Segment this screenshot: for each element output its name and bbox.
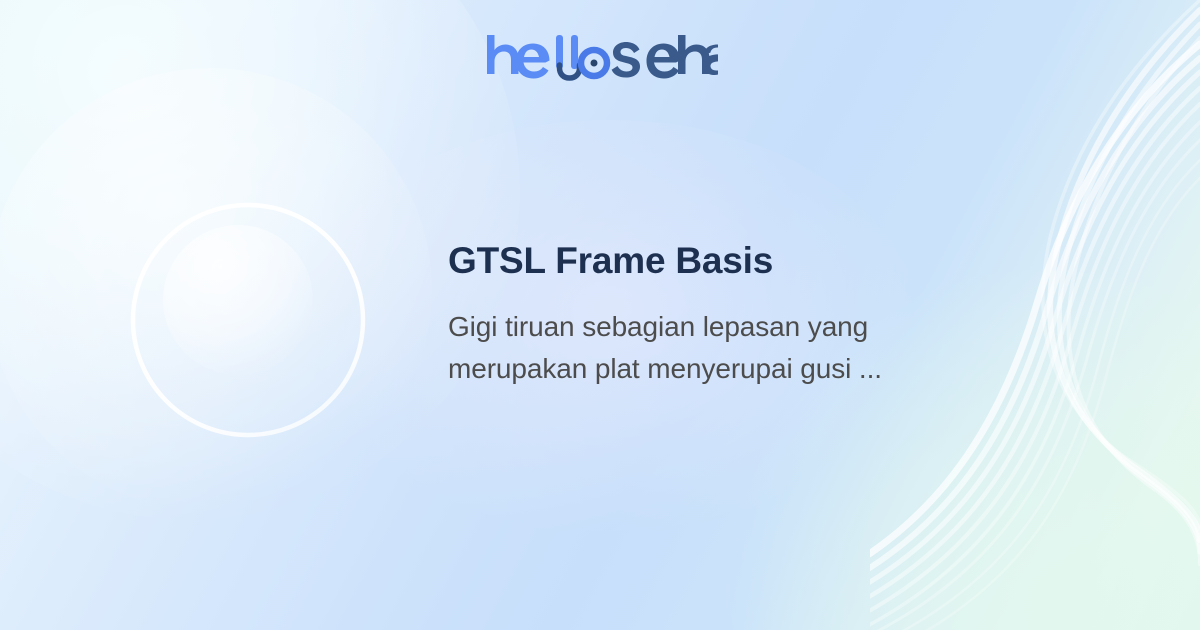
brand-logo[interactable] [0, 34, 1200, 82]
logo-letters-light [487, 35, 550, 79]
stethoscope-letters-icon [556, 35, 580, 78]
hellosehat-logo-icon[interactable] [483, 34, 718, 82]
og-card: GTSL Frame Basis Gigi tiruan sebagian le… [0, 0, 1200, 630]
page-description: Gigi tiruan sebagian lepasan yang merupa… [448, 306, 1008, 390]
stethoscope-chestpiece-icon [581, 50, 607, 76]
page-title: GTSL Frame Basis [448, 238, 1008, 284]
logo-letters-dark [611, 35, 718, 79]
article-content: GTSL Frame Basis Gigi tiruan sebagian le… [448, 238, 1008, 390]
